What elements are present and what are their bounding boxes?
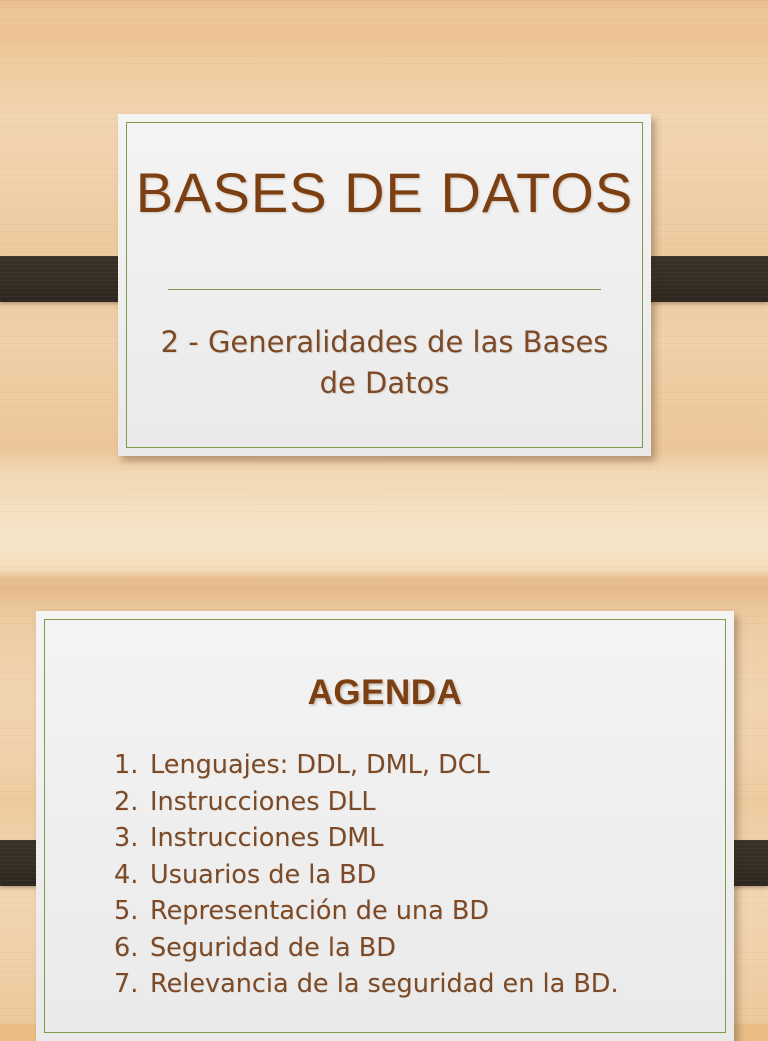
- slide-title-card[interactable]: BASES DE DATOS 2 - Generalidades de las …: [118, 114, 651, 456]
- agenda-list: 1.Lenguajes: DDL, DML, DCL2.Instruccione…: [114, 753, 710, 1009]
- agenda-item-number: 3.: [114, 826, 150, 852]
- agenda-item-label: Instrucciones DML: [150, 826, 710, 852]
- agenda-item-label: Usuarios de la BD: [150, 863, 710, 889]
- agenda-item-number: 4.: [114, 863, 150, 889]
- agenda-item-number: 1.: [114, 753, 150, 779]
- slide-agenda-card[interactable]: AGENDA 1.Lenguajes: DDL, DML, DCL2.Instr…: [36, 611, 734, 1041]
- slide-subtitle: 2 - Generalidades de las Bases de Datos: [158, 322, 611, 404]
- agenda-list-item: 3.Instrucciones DML: [114, 826, 710, 852]
- agenda-item-label: Instrucciones DLL: [150, 790, 710, 816]
- agenda-item-number: 5.: [114, 899, 150, 925]
- agenda-item-label: Lenguajes: DDL, DML, DCL: [150, 753, 710, 779]
- agenda-list-item: 1.Lenguajes: DDL, DML, DCL: [114, 753, 710, 779]
- agenda-list-item: 4.Usuarios de la BD: [114, 863, 710, 889]
- agenda-item-label: Relevancia de la seguridad en la BD.: [150, 972, 710, 998]
- agenda-list-item: 2.Instrucciones DLL: [114, 790, 710, 816]
- agenda-list-item: 5.Representación de una BD: [114, 899, 710, 925]
- slide-title: BASES DE DATOS: [118, 164, 651, 223]
- agenda-list-item: 7.Relevancia de la seguridad en la BD.: [114, 972, 710, 998]
- agenda-list-item: 6.Seguridad de la BD: [114, 936, 710, 962]
- title-divider-rule: [168, 289, 601, 290]
- agenda-item-number: 7.: [114, 972, 150, 998]
- agenda-item-number: 2.: [114, 790, 150, 816]
- agenda-item-number: 6.: [114, 936, 150, 962]
- agenda-item-label: Representación de una BD: [150, 899, 710, 925]
- agenda-item-label: Seguridad de la BD: [150, 936, 710, 962]
- agenda-heading: AGENDA: [36, 673, 734, 713]
